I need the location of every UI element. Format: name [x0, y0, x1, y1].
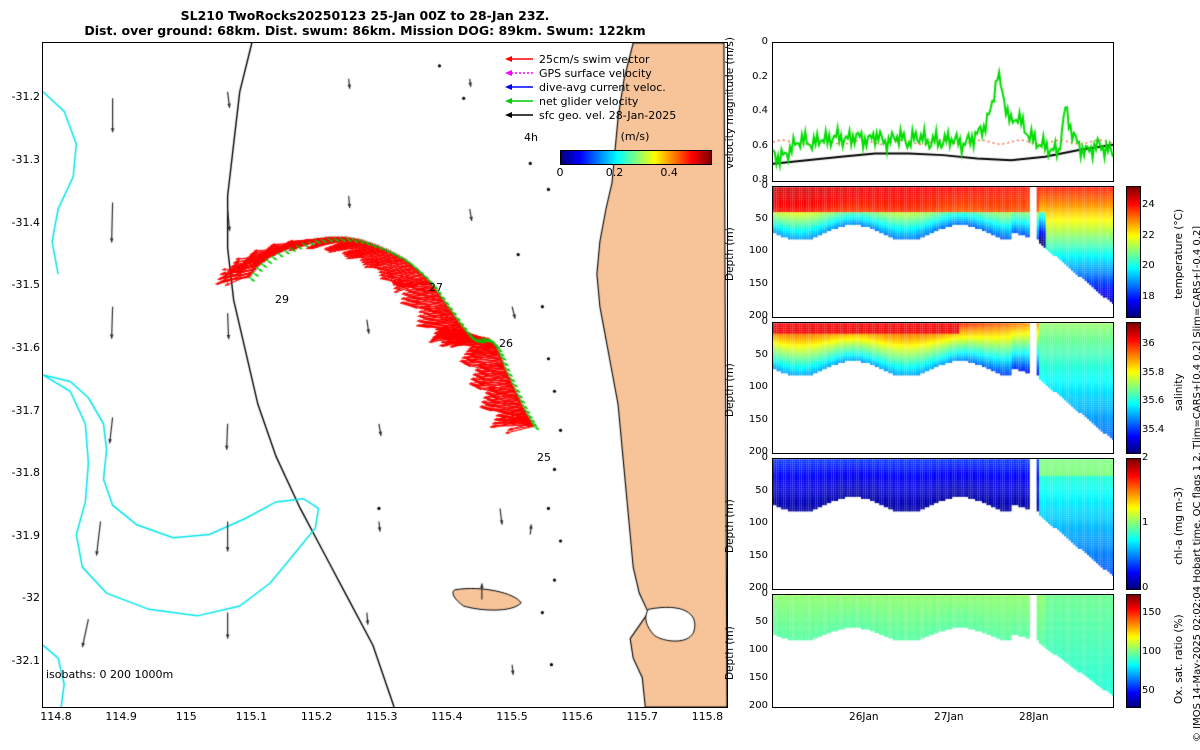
legend-label: sfc geo. vel. 28-Jan-2025	[539, 109, 676, 122]
legend-arrow-icon	[505, 67, 535, 79]
legend-label: net glider velocity	[539, 95, 638, 108]
panel-velocity-ylabel: velocity magnitude (m/s)	[724, 37, 736, 169]
map-xtick-label: 115.4	[417, 710, 477, 723]
panel-temperature-ytick: 50	[734, 213, 768, 224]
map-xtick-label: 114.9	[91, 710, 151, 723]
legend-row: sfc geo. vel. 28-Jan-2025	[505, 108, 717, 122]
map-ytick-label: -32.1	[0, 654, 40, 667]
map-xtick-label: 115.2	[287, 710, 347, 723]
legend-row: net glider velocity	[505, 94, 717, 108]
map-ytick-label: -31.9	[0, 529, 40, 542]
panel-salinity	[772, 322, 1114, 454]
panel-velocity-canvas	[773, 43, 1113, 181]
colorbar-oxygen-tick: 100	[1142, 646, 1161, 657]
panel-salinity-canvas	[773, 323, 1113, 453]
map-colorbar-tick: 0	[540, 166, 580, 179]
colorbar-salinity-tick: 35.6	[1142, 395, 1164, 406]
map-xtick-label: 115.1	[221, 710, 281, 723]
legend-label: 25cm/s swim vector	[539, 53, 650, 66]
map-ytick-label: -31.4	[0, 216, 40, 229]
legend-label: dive-avg current veloc.	[539, 81, 666, 94]
panel-velocity-ytick: 0.4	[734, 105, 768, 116]
colorbar-chlorophyll-title: chl-a (mg m-3)	[1173, 487, 1185, 565]
panel-temperature-ytick: 150	[734, 278, 768, 289]
panel-oxygen	[772, 594, 1114, 708]
colorbar-oxygen-tick: 50	[1142, 685, 1155, 696]
colorbar-oxygen-gradient	[1127, 595, 1140, 707]
panel-chlorophyll-ytick: 100	[734, 517, 768, 528]
map-xtick-label: 115.3	[352, 710, 412, 723]
legend-row: 25cm/s swim vector	[505, 52, 717, 66]
map-xtick-label: 115.7	[612, 710, 672, 723]
panel-velocity-ytick: 0.6	[734, 140, 768, 151]
colorbar-salinity-tick: 36	[1142, 338, 1155, 349]
colorbar-temperature-tick: 20	[1142, 260, 1155, 271]
colorbar-temperature-tick: 18	[1142, 291, 1155, 302]
legend-row: GPS surface velocity	[505, 66, 717, 80]
legend-arrow-icon	[505, 109, 535, 121]
colorbar-temperature-tick: 22	[1142, 230, 1155, 241]
panel-temperature-ylabel: Depth (m)	[724, 227, 736, 281]
panel-salinity-ytick: 50	[734, 349, 768, 360]
panel-velocity-ytick: 0.2	[734, 71, 768, 82]
legend-row: dive-avg current veloc.	[505, 80, 717, 94]
colorbar-salinity-tick: 35.4	[1142, 424, 1164, 435]
panel-xtick-label: 26Jan	[834, 711, 894, 723]
panel-velocity	[772, 42, 1114, 182]
map-xtick-label: 115.5	[482, 710, 542, 723]
map-xtick-label: 115	[156, 710, 216, 723]
page-title: SL210 TwoRocks20250123 25-Jan 00Z to 28-…	[0, 8, 730, 38]
panel-oxygen-ytick: 0	[734, 588, 768, 599]
colorbar-oxygen	[1126, 594, 1141, 708]
colorbar-temperature-tick: 24	[1142, 199, 1155, 210]
map-xtick-label: 115.6	[547, 710, 607, 723]
map-ytick-label: -31.3	[0, 153, 40, 166]
legend-arrow-icon	[505, 53, 535, 65]
panel-salinity-ylabel: Depth (m)	[724, 363, 736, 417]
map-xtick-label: 114.8	[26, 710, 86, 723]
colorbar-salinity-gradient	[1127, 323, 1140, 453]
panel-oxygen-ytick: 50	[734, 616, 768, 627]
panel-oxygen-ytick: 100	[734, 644, 768, 655]
legend-arrow-icon	[505, 81, 535, 93]
dive-number-label: 26	[499, 337, 513, 350]
colorbar-chlorophyll-gradient	[1127, 459, 1140, 589]
map-ytick-label: -31.8	[0, 466, 40, 479]
colorbar-temperature	[1126, 186, 1141, 318]
panel-xtick-label: 27Jan	[919, 711, 979, 723]
map-colorbar-tick: 0.4	[649, 166, 689, 179]
panel-salinity-ytick: 0	[734, 316, 768, 327]
panel-oxygen-ylabel: Depth (m)	[724, 626, 736, 680]
map-ytick-label: -31.2	[0, 90, 40, 103]
colorbar-temperature-gradient	[1127, 187, 1140, 317]
panel-xtick-label: 28Jan	[1004, 711, 1064, 723]
panel-chlorophyll-ytick: 0	[734, 452, 768, 463]
colorbar-temperature-title: temperature (°C)	[1173, 209, 1185, 299]
scale-label: 4h	[524, 131, 538, 144]
colorbar-chlorophyll	[1126, 458, 1141, 590]
colorbar-salinity	[1126, 322, 1141, 454]
panel-oxygen-ytick: 200	[734, 700, 768, 711]
panel-chlorophyll-canvas	[773, 459, 1113, 589]
map-ytick-label: -31.6	[0, 341, 40, 354]
panel-oxygen-canvas	[773, 595, 1113, 707]
map-ytick-label: -32	[0, 591, 40, 604]
map-xtick-label: 115.8	[677, 710, 737, 723]
colorbar-chlorophyll-tick: 1	[1142, 517, 1148, 528]
colorbar-chlorophyll-tick: 2	[1142, 452, 1148, 463]
panel-chlorophyll-ytick: 150	[734, 550, 768, 561]
panel-temperature-ytick: 100	[734, 245, 768, 256]
colorbar-salinity-title: salinity	[1173, 373, 1185, 411]
panel-temperature-ytick: 0	[734, 180, 768, 191]
panel-chlorophyll-ylabel: Depth (m)	[724, 499, 736, 553]
legend-label: GPS surface velocity	[539, 67, 652, 80]
credit-text: © IMOS 14-May-2025 02:02:04 Hobart time.…	[1192, 226, 1200, 742]
map-colorbar-title: (m/s)	[560, 130, 710, 143]
map-legend: 25cm/s swim vectorGPS surface velocitydi…	[505, 52, 717, 122]
panel-velocity-ytick: 0	[734, 36, 768, 47]
dive-number-label: 25	[537, 451, 551, 464]
panel-oxygen-ytick: 150	[734, 672, 768, 683]
panel-temperature	[772, 186, 1114, 318]
panel-chlorophyll	[772, 458, 1114, 590]
colorbar-salinity-tick: 35.8	[1142, 367, 1164, 378]
panel-salinity-ytick: 100	[734, 381, 768, 392]
colorbar-oxygen-tick: 150	[1142, 607, 1161, 618]
map-colorbar-tick: 0.2	[595, 166, 635, 179]
colorbar-oxygen-title: Ox. sat. ratio (%)	[1173, 614, 1185, 704]
map-ytick-label: -31.5	[0, 278, 40, 291]
dive-number-label: 27	[429, 281, 443, 294]
map-colorbar	[560, 150, 710, 164]
map-ytick-label: -31.7	[0, 404, 40, 417]
dive-number-label: 29	[275, 293, 289, 306]
title-line-1: SL210 TwoRocks20250123 25-Jan 00Z to 28-…	[0, 8, 730, 23]
isobath-label: isobaths: 0 200 1000m	[46, 668, 173, 681]
legend-arrow-icon	[505, 95, 535, 107]
panel-salinity-ytick: 150	[734, 414, 768, 425]
panel-temperature-canvas	[773, 187, 1113, 317]
title-line-2: Dist. over ground: 68km. Dist. swum: 86k…	[0, 23, 730, 38]
colorbar-chlorophyll-tick: 0	[1142, 582, 1148, 593]
panel-chlorophyll-ytick: 50	[734, 485, 768, 496]
